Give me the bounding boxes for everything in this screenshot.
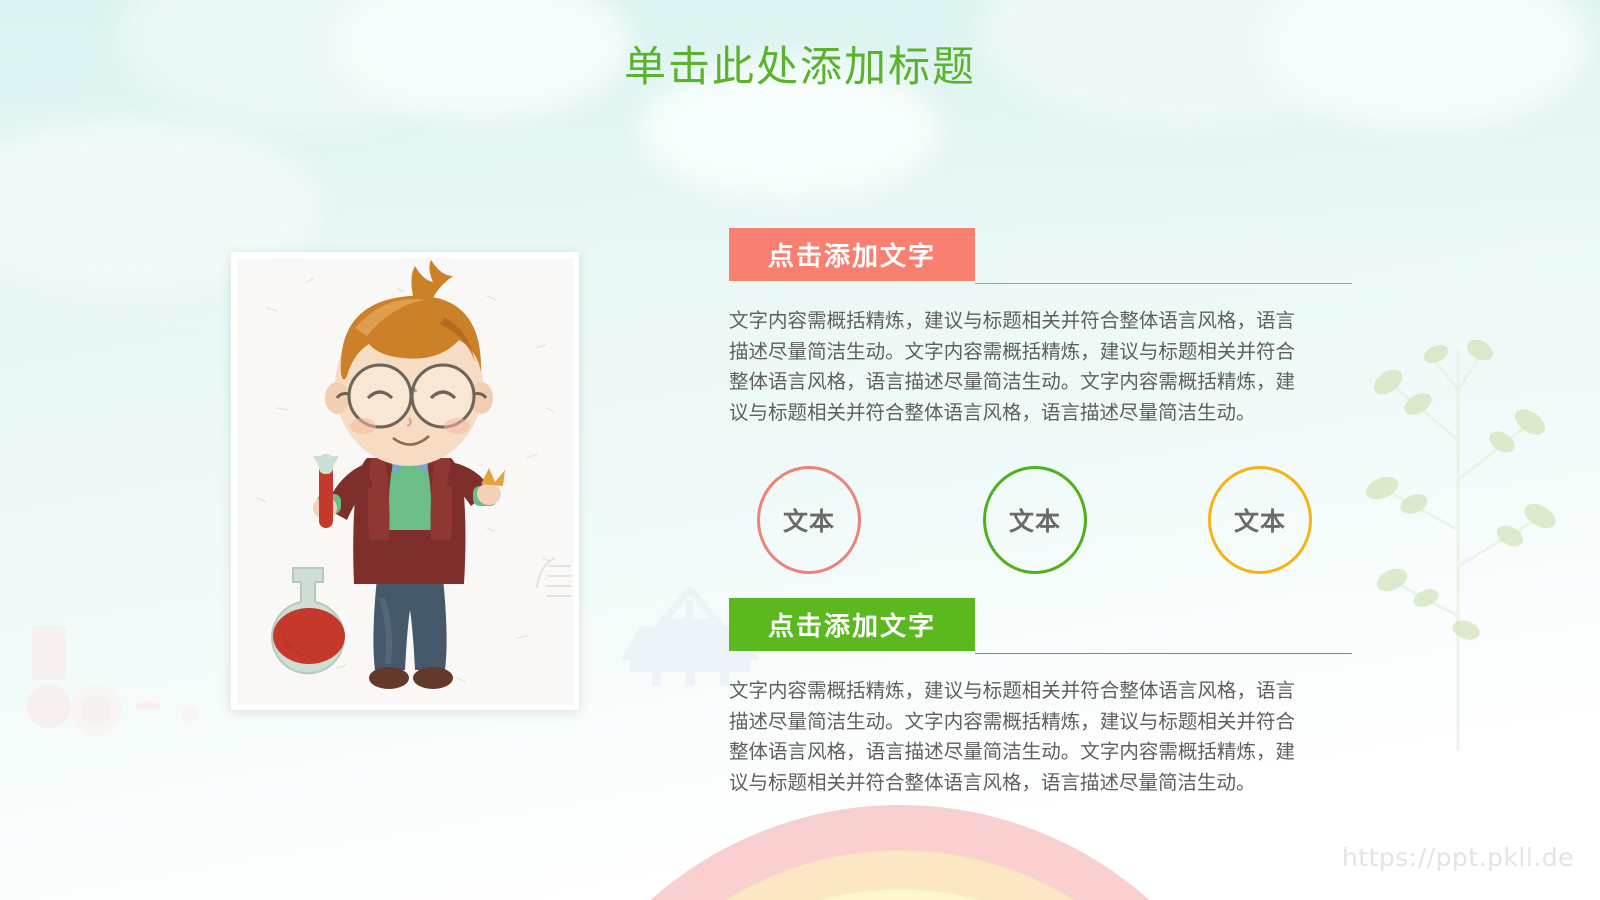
circle-badge-3[interactable]: 文本 [1208,466,1312,574]
tree-branch-decoration [1330,330,1590,750]
circle-badges-row: 文本 文本 文本 [729,466,1354,576]
section-2-heading-chip[interactable]: 点击添加文字 [729,598,975,651]
section-1-header: 点击添加文字 [729,228,1354,284]
circle-badge-1[interactable]: 文本 [757,466,861,574]
circle-badge-3-label: 文本 [1234,502,1286,538]
section-1-rule [975,283,1352,284]
section-2-header: 点击添加文字 [729,598,1354,654]
watermark-url: https://ppt.pkll.de [1342,843,1574,872]
circle-badge-2-label: 文本 [1009,502,1061,538]
boy-scientist-illustration [237,258,573,704]
page-title: 单击此处添加标题 [0,42,1600,92]
section-1-heading-chip[interactable]: 点击添加文字 [729,228,975,281]
section-2-body-text[interactable]: 文字内容需概括精炼，建议与标题相关并符合整体语言风格，语言描述尽量简洁生动。文字… [729,676,1295,798]
section-block-2: 点击添加文字 文字内容需概括精炼，建议与标题相关并符合整体语言风格，语言描述尽量… [729,598,1354,798]
section-1-body-text[interactable]: 文字内容需概括精炼，建议与标题相关并符合整体语言风格，语言描述尽量简洁生动。文字… [729,306,1295,428]
circle-badge-2[interactable]: 文本 [983,466,1087,574]
blossom-silhouette-decoration [10,590,250,780]
section-block-1: 点击添加文字 文字内容需概括精炼，建议与标题相关并符合整体语言风格，语言描述尽量… [729,228,1354,428]
section-2-rule [975,653,1352,654]
slide-canvas: 单击此处添加标题 [0,0,1600,900]
circle-badge-1-label: 文本 [783,502,835,538]
illustration-card [231,252,579,710]
